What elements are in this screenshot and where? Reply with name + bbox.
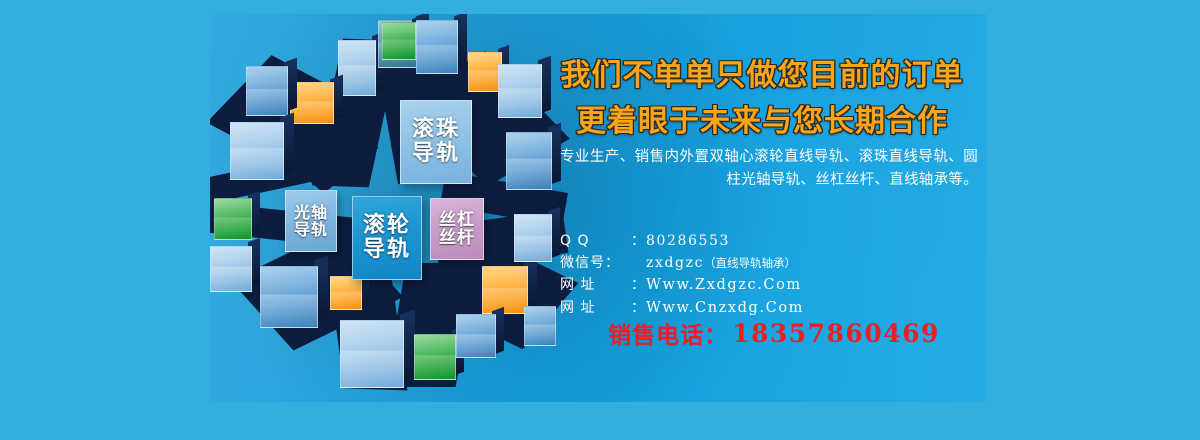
cube-face: [416, 20, 458, 74]
product-tile-roller-rail[interactable]: 滚轮 导轨: [352, 196, 422, 280]
contact-info-block: Q Q： 80286553 微信号： zxdgzc （直线导轨轴承） 网 址： …: [560, 230, 980, 320]
product-tile-optical-axis[interactable]: 光轴 导轨: [285, 190, 337, 252]
contact-label-qq: Q Q：: [560, 230, 646, 252]
sales-phone-number[interactable]: 18357860469: [732, 319, 940, 348]
cube-face: [210, 246, 252, 292]
cube-face: [468, 52, 502, 92]
product-tile-label-line1: 丝杠: [439, 211, 475, 229]
cube-face: [482, 266, 528, 314]
headline-line-2: 更着眼于未来与您长期合作: [552, 96, 972, 140]
product-tile-label-line2: 导轨: [294, 221, 328, 238]
cube-face: [260, 266, 318, 328]
product-tile-label-line2: 导轨: [363, 238, 411, 262]
contact-label-website-1: 网 址：: [560, 274, 646, 296]
decorative-cube: [506, 132, 552, 190]
decorative-cube: [414, 334, 456, 380]
decorative-cube: [468, 52, 502, 92]
product-tile-label-line1: 滚珠: [412, 118, 460, 142]
decorative-cube: [498, 64, 542, 118]
cube-face: [456, 314, 496, 358]
contact-value-qq[interactable]: 80286553: [646, 230, 730, 252]
banner-stage: 滚珠 导轨 光轴 导轨 滚轮 导轨 丝杠 丝杆 我们不单单只做您目前的订单 更着…: [0, 0, 1200, 440]
cube-face: [382, 22, 416, 60]
contact-value-wechat[interactable]: zxdgzc: [646, 252, 704, 274]
contact-row-qq: Q Q： 80286553: [560, 230, 980, 252]
sales-phone-block: 销售电话： 18357860469: [564, 316, 984, 350]
contact-row-website-1: 网 址： Www.Zxdgzc.Com: [560, 274, 980, 297]
decorative-cube: [214, 198, 252, 240]
cube-face: [230, 122, 284, 180]
cube-face: [506, 132, 552, 190]
decorative-cube: [482, 266, 528, 314]
decorative-cube: [456, 314, 496, 358]
decorative-cube: [246, 66, 288, 116]
decorative-cube: [382, 22, 416, 60]
contact-row-wechat: 微信号： zxdgzc （直线导轨轴承）: [560, 252, 980, 274]
product-tile-label-line1: 光轴: [294, 204, 328, 221]
headline-line-1: 我们不单单只做您目前的订单: [552, 50, 972, 94]
exploding-cubes-illustration: 滚珠 导轨 光轴 导轨 滚轮 导轨 丝杠 丝杆: [210, 14, 550, 402]
product-tile-lead-screw[interactable]: 丝杠 丝杆: [430, 198, 484, 260]
cube-face: [414, 334, 456, 380]
cube-face: [214, 198, 252, 240]
decorative-cube: [210, 246, 252, 292]
product-tile-label-line1: 滚轮: [363, 214, 411, 238]
contact-value-website-1[interactable]: Www.Zxdgzc.Com: [646, 274, 802, 297]
contact-label-wechat: 微信号：: [560, 252, 646, 274]
decorative-cube: [336, 28, 376, 90]
cube-face: [246, 66, 288, 116]
product-tile-ball-rail[interactable]: 滚珠 导轨: [400, 100, 472, 184]
decorative-cube: [260, 266, 318, 328]
decorative-cube: [416, 20, 458, 74]
product-tile-label-line2: 导轨: [412, 142, 460, 166]
contact-note-wechat: （直线导轨轴承）: [704, 254, 796, 272]
cube-face: [514, 214, 552, 262]
decorative-cube: [514, 214, 552, 262]
decorative-cube: [330, 276, 362, 310]
company-description: 专业生产、销售内外置双轴心滚轮直线导轨、滚珠直线导轨、圆柱光轴导轨、丝杠丝杆、直…: [560, 146, 978, 193]
cube-face: [340, 320, 404, 388]
product-tile-label-line2: 丝杆: [439, 229, 475, 247]
decorative-cube: [340, 320, 404, 388]
decorative-cube: [230, 122, 284, 180]
decorative-cube: [332, 122, 386, 188]
cube-face: [330, 276, 362, 310]
promo-banner: 滚珠 导轨 光轴 导轨 滚轮 导轨 丝杠 丝杆 我们不单单只做您目前的订单 更着…: [210, 14, 986, 402]
cube-face: [498, 64, 542, 118]
banner-text-column: 我们不单单只做您目前的订单 更着眼于未来与您长期合作 专业生产、销售内外置双轴心…: [552, 14, 986, 402]
sales-phone-label: 销售电话：: [608, 316, 728, 350]
